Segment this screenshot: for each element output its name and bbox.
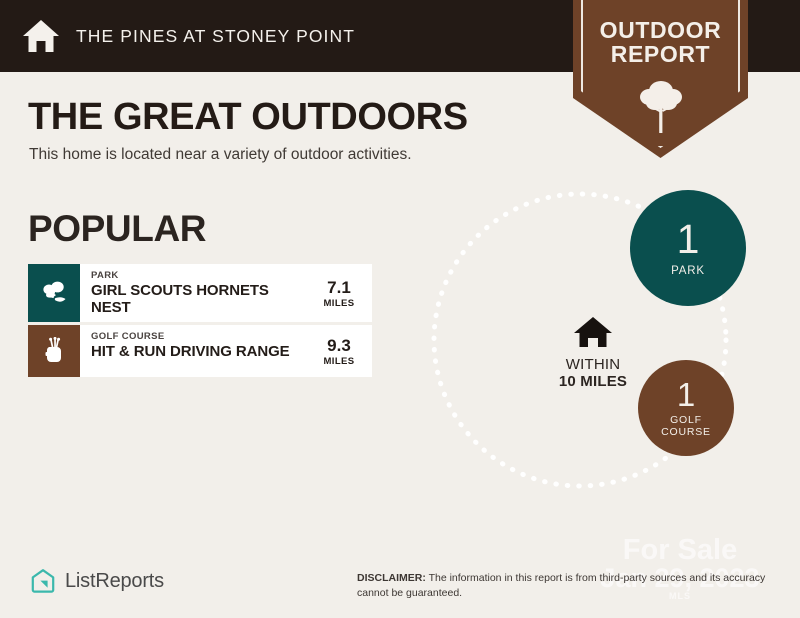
bubble-label: PARK bbox=[671, 265, 705, 278]
poi-distance-value: 7.1 bbox=[314, 279, 364, 296]
poi-distance-unit: MILES bbox=[314, 356, 364, 367]
poi-distance: 7.1 MILES bbox=[314, 264, 372, 322]
poi-name: HIT & RUN DRIVING RANGE bbox=[91, 344, 310, 361]
park-icon bbox=[28, 264, 80, 322]
home-icon bbox=[573, 316, 613, 349]
bubble-count: 1 bbox=[677, 219, 700, 260]
golf-bag-icon bbox=[28, 325, 80, 377]
summary-bubble-golf[interactable]: 1 GOLF COURSE bbox=[638, 360, 734, 456]
disclaimer: DISCLAIMER: The information in this repo… bbox=[357, 571, 777, 601]
page-title: THE GREAT OUTDOORS bbox=[28, 96, 468, 139]
disclaimer-label: DISCLAIMER: bbox=[357, 572, 426, 584]
poi-distance: 9.3 MILES bbox=[314, 325, 372, 377]
list-item[interactable]: GOLF COURSE HIT & RUN DRIVING RANGE 9.3 … bbox=[28, 325, 372, 377]
list-item-body: PARK GIRL SCOUTS HORNETS NEST bbox=[80, 264, 314, 322]
property-name: THE PINES AT STONEY POINT bbox=[76, 26, 355, 47]
summary-bubble-park[interactable]: 1 PARK bbox=[630, 190, 746, 306]
watermark-line1: For Sale bbox=[560, 536, 800, 565]
section-heading-popular: POPULAR bbox=[28, 208, 206, 250]
summary-diagram: 1 PARK 1 GOLF COURSE WITHIN 10 MILES bbox=[430, 170, 800, 500]
badge-line2: REPORT bbox=[573, 42, 748, 66]
poi-list: PARK GIRL SCOUTS HORNETS NEST 7.1 MILES bbox=[28, 264, 372, 380]
poi-name: GIRL SCOUTS HORNETS NEST bbox=[91, 283, 310, 317]
badge-line1: OUTDOOR bbox=[573, 18, 748, 42]
poi-distance-value: 9.3 bbox=[314, 337, 364, 354]
tree-icon bbox=[638, 76, 684, 134]
bubble-count: 1 bbox=[677, 378, 695, 411]
bubble-label-line2: COURSE bbox=[661, 427, 711, 439]
list-item-body: GOLF COURSE HIT & RUN DRIVING RANGE bbox=[80, 325, 314, 377]
list-item[interactable]: PARK GIRL SCOUTS HORNETS NEST 7.1 MILES bbox=[28, 264, 372, 322]
home-icon bbox=[22, 18, 60, 54]
bubble-label: GOLF COURSE bbox=[661, 415, 711, 439]
center-marker-line2: 10 MILES bbox=[538, 373, 648, 390]
center-marker-line1: WITHIN bbox=[538, 356, 648, 373]
bubble-label-line1: GOLF bbox=[661, 415, 711, 427]
poi-distance-unit: MILES bbox=[314, 298, 364, 309]
page-subtitle: This home is located near a variety of o… bbox=[29, 146, 412, 164]
listreports-logo[interactable]: ListReports bbox=[30, 568, 164, 594]
poi-category: PARK bbox=[91, 270, 310, 282]
center-marker: WITHIN 10 MILES bbox=[538, 316, 648, 391]
listreports-logo-text: ListReports bbox=[65, 570, 164, 593]
outdoor-report-badge: OUTDOOR REPORT bbox=[573, 0, 748, 158]
badge-text: OUTDOOR REPORT bbox=[573, 18, 748, 66]
poi-category: GOLF COURSE bbox=[91, 331, 310, 343]
listreports-house-icon bbox=[30, 568, 56, 594]
